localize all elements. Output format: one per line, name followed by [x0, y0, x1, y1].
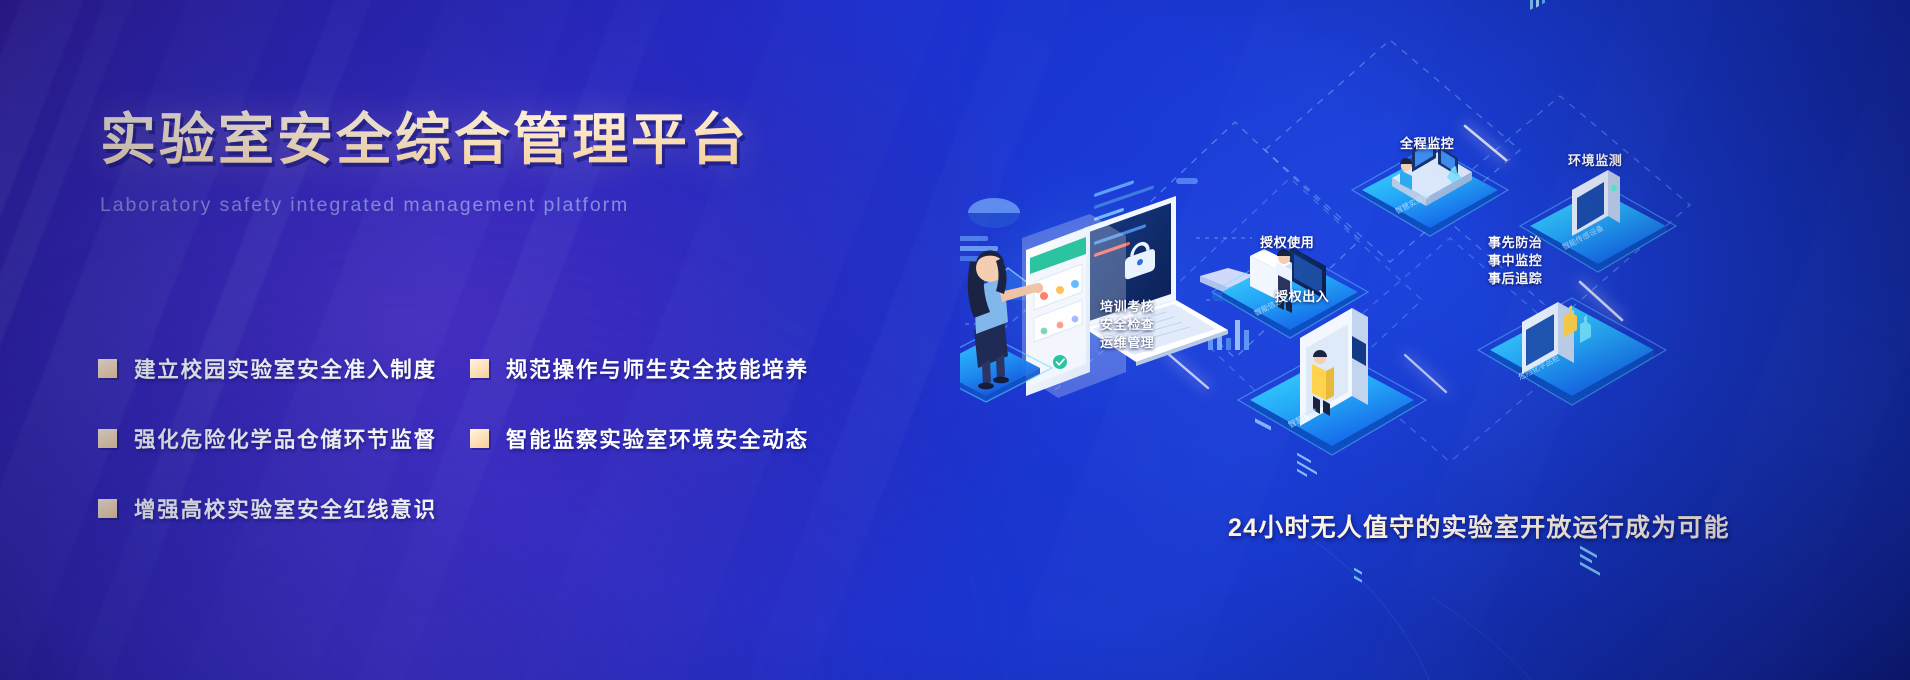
square-bullet-icon: [98, 359, 117, 378]
label-prevention-line-2: 事中监控: [1488, 252, 1542, 270]
label-training-block: 培训考核 安全检查 运维管理: [1100, 298, 1154, 352]
feature-item-2: 规范操作与师生安全技能培养: [470, 333, 842, 403]
label-environment-monitoring: 环境监测: [1568, 152, 1622, 170]
page-title: 实验室安全综合管理平台: [100, 108, 860, 172]
feature-label: 规范操作与师生安全技能培养: [506, 353, 809, 384]
square-bullet-icon: [98, 429, 117, 448]
square-bullet-icon: [470, 429, 489, 448]
label-authorized-access: 授权出入: [1275, 288, 1329, 306]
label-full-monitoring: 全程监控: [1400, 135, 1454, 153]
label-training-line-1: 培训考核: [1100, 298, 1154, 316]
bottom-tagline: 24小时无人值守的实验室开放运行成为可能: [1228, 508, 1730, 544]
feature-item-4: 智能监察实验室环境安全动态: [470, 403, 842, 473]
page-subtitle: Laboratory safety integrated management …: [100, 194, 860, 217]
hero-text-panel: 实验室安全综合管理平台 Laboratory safety integrated…: [100, 108, 860, 217]
feature-label: 增强高校实验室安全红线意识: [134, 493, 437, 524]
label-authorized-use: 授权使用: [1260, 234, 1314, 252]
isometric-diagram: 智能信息 智慧实: [960, 0, 1910, 680]
label-prevention-line-1: 事先防治: [1488, 234, 1542, 252]
square-bullet-icon: [470, 359, 489, 378]
feature-label: 强化危险化学品仓储环节监督: [134, 423, 437, 454]
feature-item-3: 强化危险化学品仓储环节监督: [98, 403, 470, 473]
feature-item-5: 增强高校实验室安全红线意识: [98, 473, 470, 543]
feature-list: 建立校园实验室安全准入制度 规范操作与师生安全技能培养 强化危险化学品仓储环节监…: [98, 333, 888, 543]
label-training-line-3: 运维管理: [1100, 334, 1154, 352]
feature-item-1: 建立校园实验室安全准入制度: [98, 333, 470, 403]
feature-label: 建立校园实验室安全准入制度: [134, 353, 437, 384]
square-bullet-icon: [98, 499, 117, 518]
label-prevention-block: 事先防治 事中监控 事后追踪: [1488, 234, 1542, 288]
feature-label: 智能监察实验室环境安全动态: [506, 423, 809, 454]
label-prevention-line-3: 事后追踪: [1488, 270, 1542, 288]
hero-banner: 实验室安全综合管理平台 Laboratory safety integrated…: [0, 0, 1910, 680]
label-training-line-2: 安全检查: [1100, 316, 1154, 334]
